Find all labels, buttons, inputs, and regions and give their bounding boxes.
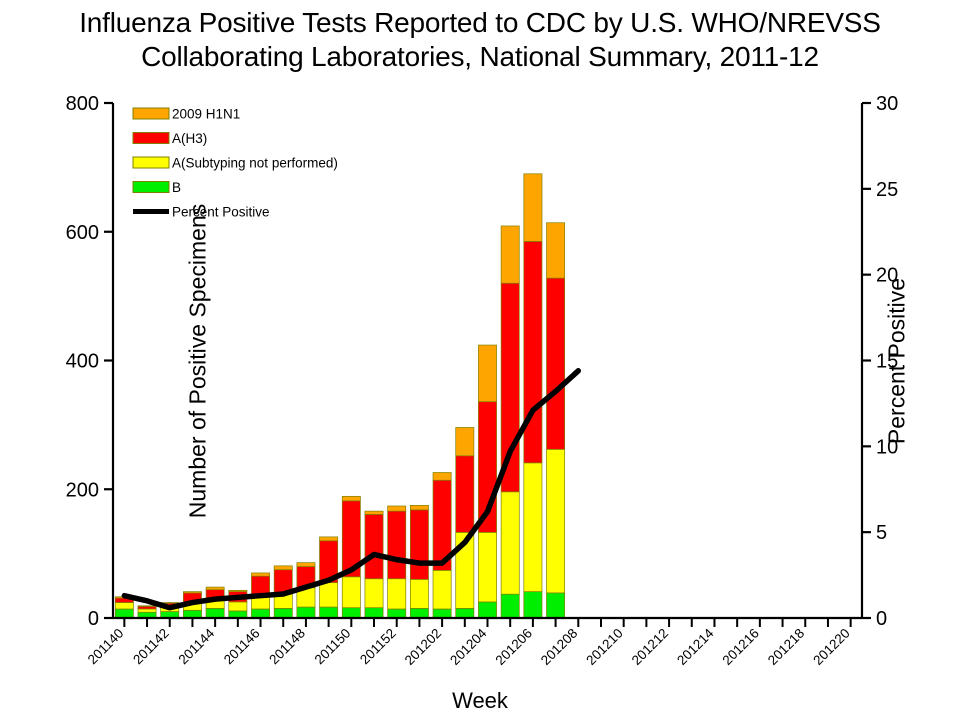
axis-canvas: 0200400600800051015202530201140201142201…: [0, 0, 960, 720]
x-axis-tick-label: 201142: [130, 626, 172, 668]
x-axis-tick-label: 201150: [312, 626, 354, 668]
x-axis-tick-label: 201220: [810, 626, 852, 668]
legend-item[interactable]: A(H3): [133, 131, 207, 146]
y-axis-left-tick-label: 400: [66, 351, 99, 373]
x-axis-tick-label: 201204: [447, 625, 490, 668]
y-axis-left-tick-label: 0: [88, 608, 99, 630]
legend-item[interactable]: A(Subtyping not performed): [133, 156, 338, 171]
red-swatch-icon: [133, 133, 169, 144]
x-axis-tick-label: 201144: [176, 625, 218, 667]
x-axis-tick-label: 201208: [538, 626, 580, 668]
green-swatch-icon: [133, 182, 169, 193]
legend-item[interactable]: B: [133, 180, 181, 195]
y-axis-right-tick-label: 5: [876, 522, 887, 544]
y-axis-right-tick-label: 0: [876, 608, 887, 630]
x-axis-tick-label: 201206: [493, 626, 535, 668]
chart-root: Influenza Positive Tests Reported to CDC…: [0, 0, 960, 720]
y-axis-right-tick-label: 10: [876, 436, 898, 458]
legend-label: Percent Positive: [172, 205, 270, 220]
x-axis-tick-label: 201214: [674, 625, 717, 668]
y-axis-right-tick-label: 15: [876, 351, 898, 373]
orange-swatch-icon: [133, 108, 169, 119]
y-axis-right-tick-label: 20: [876, 265, 898, 287]
x-axis-tick-label: 201202: [402, 626, 444, 668]
x-axis-tick-label: 201140: [85, 626, 127, 668]
legend-label: A(H3): [172, 131, 207, 146]
x-axis-title: Week: [0, 688, 960, 714]
x-axis-tick-label: 201146: [221, 626, 263, 668]
y-axis-right-tick-label: 25: [876, 179, 898, 201]
legend-label: A(Subtyping not performed): [172, 156, 338, 171]
yellow-swatch-icon: [133, 157, 169, 168]
x-axis-tick-label: 201218: [765, 626, 807, 668]
x-axis-tick-label: 201212: [629, 626, 671, 668]
x-axis-tick-label: 201216: [720, 626, 762, 668]
x-axis-tick-label: 201152: [357, 626, 399, 668]
y-axis-right-tick-label: 30: [876, 93, 898, 115]
y-axis-left-tick-label: 800: [66, 93, 99, 115]
y-axis-left-tick-label: 200: [66, 479, 99, 501]
legend-item[interactable]: Percent Positive: [133, 205, 270, 220]
legend-label: 2009 H1N1: [172, 107, 240, 122]
x-axis-tick-label: 201210: [583, 626, 625, 668]
x-axis-tick-label: 201148: [266, 626, 308, 668]
y-axis-left-tick-label: 600: [66, 222, 99, 244]
legend-label: B: [172, 180, 181, 195]
legend-item[interactable]: 2009 H1N1: [133, 107, 240, 122]
legend: 2009 H1N1A(H3)A(Subtyping not performed)…: [133, 107, 338, 220]
